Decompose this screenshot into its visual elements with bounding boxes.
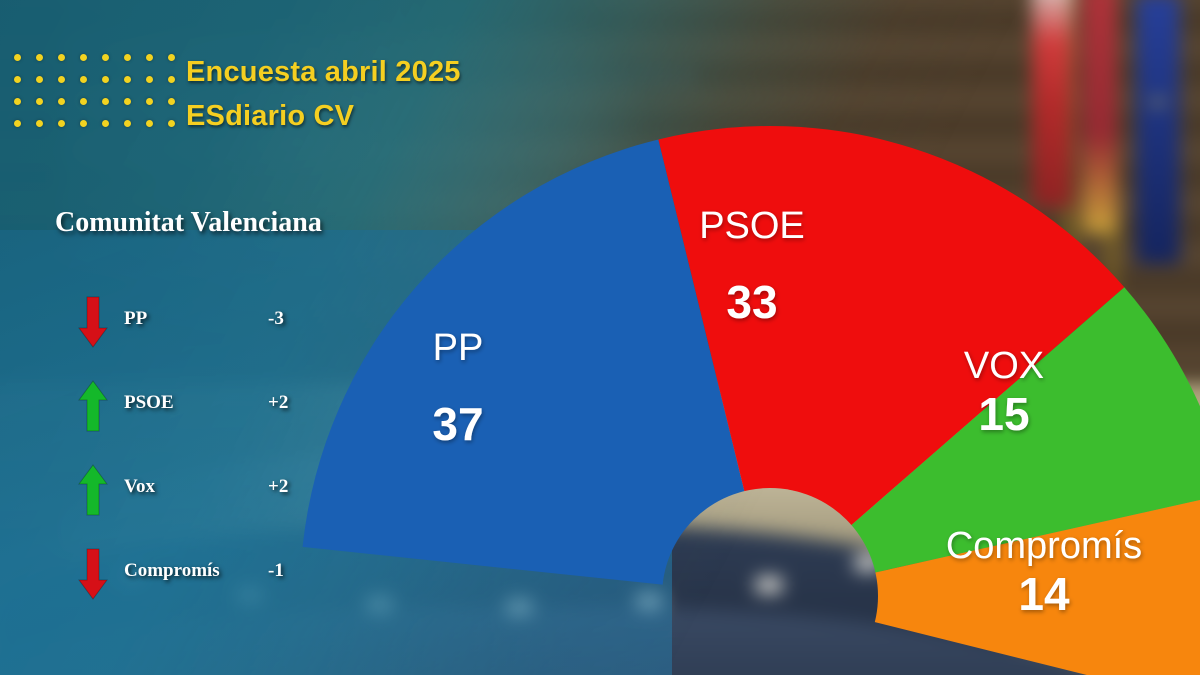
segment-seats-pp: 37 — [432, 398, 483, 450]
segment-name-psoe: PSOE — [699, 205, 805, 247]
segment-seats-vox: 15 — [978, 388, 1029, 440]
segment-seats-comproms: 14 — [1018, 568, 1070, 620]
infographic-stage: CORTS VALENCIANES — [0, 0, 1200, 675]
segment-seats-psoe: 33 — [726, 276, 777, 328]
segment-name-comproms: Compromís — [946, 525, 1142, 567]
segment-name-pp: PP — [433, 327, 484, 369]
hemicycle-donut-chart: PP37PSOE33VOX15Compromís14 — [0, 0, 1200, 675]
segment-name-vox: VOX — [964, 345, 1044, 387]
